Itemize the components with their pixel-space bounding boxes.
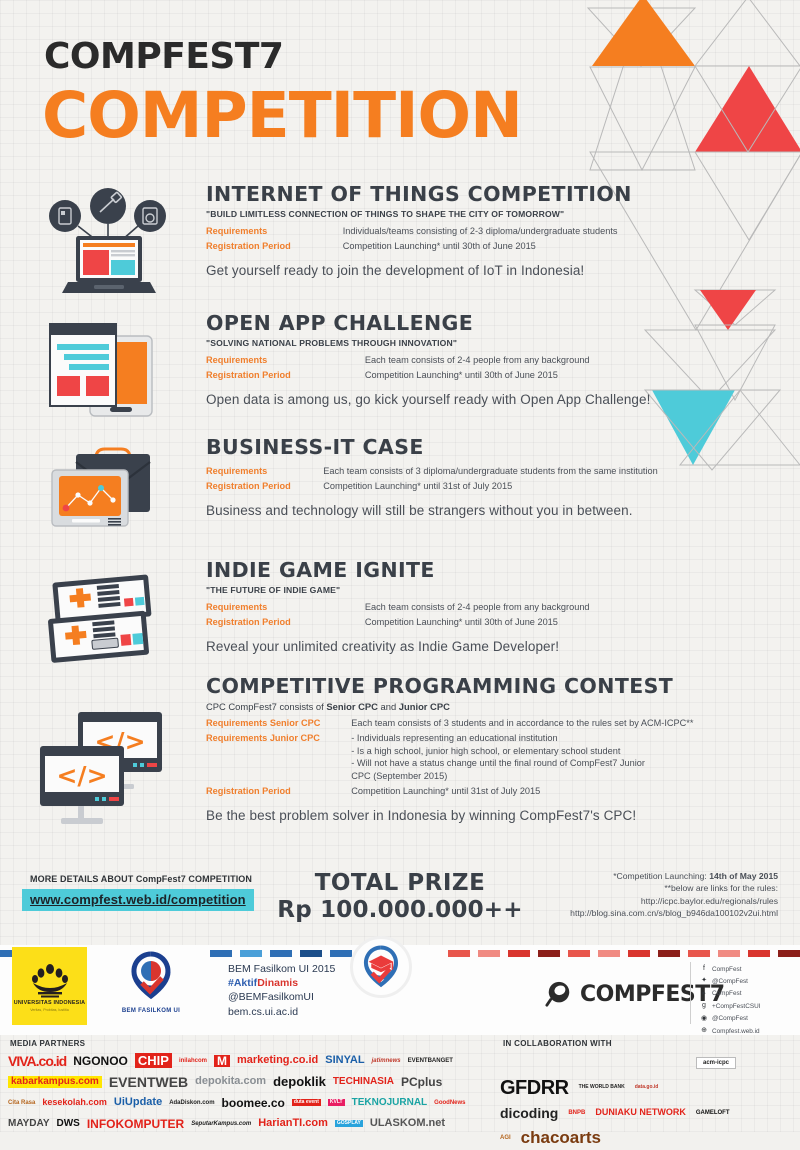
partner-logo: GOSPLAY [335,1120,363,1127]
compfest-pin-badge [350,936,412,998]
partner-logo: GoodNews [434,1100,465,1106]
spec-label: Registration Period [206,616,365,631]
partner-logo: duta event [292,1099,321,1106]
spec-value: Competition Launching* until 30th of Jun… [365,369,786,384]
spec-label: Requirements Junior CPC [206,732,351,785]
iot-laptop-icon [28,186,188,301]
partner-logo: ULASKOM.net [370,1118,445,1129]
bem-website[interactable]: bem.cs.ui.ac.id [228,1005,335,1019]
collab-logo: AGI [500,1135,511,1141]
section-footer-bitc: Business and technology will still be st… [206,503,786,518]
partner-logo: UiUpdate [114,1097,162,1108]
collab-logo: DUNIAKU NETWORK [595,1108,686,1117]
spec-row: Requirements Individuals/teams consistin… [206,225,786,240]
partner-logo: marketing.co.id [237,1055,318,1066]
partner-logo: TEKNOJURNAL [352,1098,428,1108]
section-openapp: OPEN APP CHALLENGE "SOLVING NATIONAL PRO… [206,311,786,407]
svg-text:</>: </> [56,761,107,790]
spec-value: Each team consists of 3 students and in … [351,717,786,732]
section-footer-cpc: Be the best problem solver in Indonesia … [206,808,786,823]
partner-logo: EVENTBANGET [408,1058,453,1064]
social-item-twitter[interactable]: ✦@CompFest [700,975,760,987]
partner-logo: CHIP [135,1053,172,1068]
partner-logo: depoklik [273,1075,326,1088]
partner-logo: MAYDAY [8,1119,50,1129]
spec-row: Registration Period Competition Launchin… [206,480,786,495]
social-item-googleplus[interactable]: g+CompFestCSUI [700,1000,760,1012]
bem-twitter: @BEMFasilkomUI [228,990,335,1004]
partner-logo: inilahcom [179,1058,207,1064]
footnote-rules-link-1[interactable]: http://icpc.baylor.edu/regionals/rules [570,895,778,907]
collab-logo: acm-icpc [696,1057,736,1069]
partner-logo: depokita.com [195,1076,266,1087]
social-links-list: fCompFest ✦@CompFest ▸CompFest g+CompFes… [700,963,760,1038]
social-label: @CompFest [712,1013,748,1024]
website-icon: ⊕ [700,1025,708,1037]
section-bitc: BUSINESS-IT CASE Requirements Each team … [206,435,786,518]
spec-label: Requirements [206,465,323,480]
section-footer-iot: Get yourself ready to join the developme… [206,263,786,278]
spec-value: Each team consists of 2-4 people from an… [365,354,786,369]
spec-label: Registration Period [206,240,343,255]
partner-logo: SINYAL [325,1055,364,1066]
section-title-iot: INTERNET OF THINGS COMPETITION [206,182,786,206]
collab-logo: THE WORLD BANK [579,1085,625,1090]
partner-logo: HarianTI.com [258,1118,328,1129]
spec-row: Registration Period Competition Launchin… [206,785,786,800]
section-title-bitc: BUSINESS-IT CASE [206,435,786,459]
socials-divider [690,962,691,1024]
logo-row: dicoding BNPB DUNIAKU NETWORK GAMELOFT [500,1100,796,1125]
section-subtitle-cpc: CPC CompFest7 consists of Senior CPC and… [206,701,786,712]
spec-value: Each team consists of 3 diploma/undergra… [323,465,786,480]
section-title-cpc: COMPETITIVE PROGRAMMING CONTEST [206,674,786,698]
spec-label: Registration Period [206,480,323,495]
footnote-launching: *Competition Launching: 14th of May 2015 [570,870,778,882]
spec-label: Registration Period [206,785,351,800]
partner-logo: VIVA.co.id [8,1054,66,1068]
section-title-igi: INDIE GAME IGNITE [206,558,786,582]
section-tagline-igi: "THE FUTURE OF INDIE GAME" [206,585,786,595]
media-partners-heading: MEDIA PARTNERS [10,1039,85,1048]
logo-row: GFDRR THE WORLD BANK data.go.id [500,1075,796,1100]
spec-row: Registration Period Competition Launchin… [206,240,786,255]
partner-logo: INFOKOMPUTER [87,1118,184,1130]
logo-row: VIVA.co.id NGONOO CHIP inilahcom M marke… [8,1050,488,1071]
page-title: COMPETITION [42,84,522,147]
collab-logo: data.go.id [635,1085,659,1090]
media-partner-logos: VIVA.co.id NGONOO CHIP inilahcom M marke… [8,1050,488,1134]
social-label: @CompFest [712,976,748,987]
social-label: +CompFestCSUI [712,1001,760,1012]
twitter-icon: ✦ [700,975,708,987]
bem-contact-block: BEM Fasilkom UI 2015 #AktifDinamis @BEMF… [228,962,335,1019]
social-label: Compfest.web.id [712,1026,760,1037]
footnote-launch-date: 14th of May 2015 [709,871,778,881]
brand-text: COMPFEST7 [44,36,283,77]
spec-label: Requirements [206,601,365,616]
collab-logo: GAMELOFT [696,1110,730,1116]
specs-table-openapp: Requirements Each team consists of 2-4 p… [206,354,786,385]
partner-logo: M [214,1055,230,1067]
line-icon: ◉ [700,1013,708,1025]
facebook-icon: f [700,963,708,975]
partner-logo: TECHINASIA [333,1077,394,1087]
section-footer-igi: Reveal your unlimited creativity as Indi… [206,639,786,654]
googleplus-icon: g [700,1000,708,1012]
universitas-indonesia-logo: UNIVERSITAS INDONESIA Veritas, Probitas,… [12,947,87,1025]
section-tagline-iot: "BUILD LIMITLESS CONNECTION OF THINGS TO… [206,209,786,219]
partner-logo: SeputarKampus.com [191,1121,251,1127]
spec-value: Competition Launching* until 30th of Jun… [365,616,786,631]
code-monitors-icon: </> </> [28,706,203,836]
bem-pin-icon [126,950,176,1002]
spec-row: Requirements Junior CPC - Individuals re… [206,732,786,785]
spec-row: Requirements Each team consists of 3 dip… [206,465,786,480]
partner-logo: kesekolah.com [42,1098,107,1107]
collab-logo: BNPB [568,1110,585,1116]
logo-row: Cita Rasa kesekolah.com UiUpdate AdaDisk… [8,1092,488,1113]
spec-value: Individuals/teams consisting of 2-3 dipl… [343,225,786,240]
specs-table-igi: Requirements Each team consists of 2-4 p… [206,601,786,632]
section-footer-openapp: Open data is among us, go kick yourself … [206,392,786,407]
section-cpc: COMPETITIVE PROGRAMMING CONTEST CPC Comp… [206,674,786,823]
partner-logo: AdaDiskon.com [169,1100,214,1106]
compfest-mark-icon [545,980,573,1008]
bem-logo-caption: BEM FASILKOM UI [110,1008,192,1014]
ui-logo-caption: UNIVERSITAS INDONESIA [14,1000,86,1007]
collab-logo: dicoding [500,1106,558,1120]
cpc-sub-junior: Junior CPC [399,701,450,712]
section-title-openapp: OPEN APP CHALLENGE [206,311,786,335]
collaboration-logos: acm-icpc GFDRR THE WORLD BANK data.go.id… [500,1050,796,1150]
spec-row: Registration Period Competition Launchin… [206,369,786,384]
collab-logo: GFDRR [500,1078,569,1098]
social-item-website[interactable]: ⊕Compfest.web.id [700,1025,760,1037]
partner-logo: PCplus [401,1076,442,1088]
graduation-pin-icon [358,944,404,990]
spec-value: Competition Launching* until 30th of Jun… [343,240,786,255]
brand-wordmark: COMPFEST7 [44,36,283,77]
specs-table-bitc: Requirements Each team consists of 3 dip… [206,465,786,496]
social-label: CompFest [712,964,741,975]
spec-row: Requirements Senior CPC Each team consis… [206,717,786,732]
collaboration-heading: IN COLLABORATION WITH [503,1039,612,1049]
spec-row: Registration Period Competition Launchin… [206,616,786,631]
section-iot: INTERNET OF THINGS COMPETITION "BUILD LI… [206,182,786,278]
partner-logo: EVENTWEB [109,1075,188,1089]
logo-row: AGI chacoarts [500,1125,796,1150]
bem-hashtag-aktif: #Aktif [228,977,257,989]
partner-logo: Cita Rasa [8,1100,35,1106]
spec-label: Requirements [206,354,365,369]
specs-table-iot: Requirements Individuals/teams consistin… [206,225,786,256]
cpc-sub-senior: Senior CPC [326,701,378,712]
social-item-youtube[interactable]: ▸CompFest [700,988,760,1000]
bem-hashtag: #AktifDinamis [228,976,335,990]
spec-value: - Individuals representing an educationa… [351,732,786,785]
spec-value: Competition Launching* until 31st of Jul… [351,785,786,800]
spec-row: Requirements Each team consists of 2-4 p… [206,354,786,369]
section-igi: INDIE GAME IGNITE "THE FUTURE OF INDIE G… [206,558,786,654]
spec-value: Each team consists of 2-4 people from an… [365,601,786,616]
compfest-footer-logo: COMPFEST7 [545,980,725,1008]
partner-logo: KVLT [328,1099,345,1106]
partner-logo: jatimnews [372,1058,401,1064]
logo-row: acm-icpc [500,1050,796,1075]
partner-logo: boomee.co [222,1097,285,1109]
partner-logo: DWS [57,1119,80,1129]
youtube-icon: ▸ [700,988,708,1000]
social-label: CompFest [712,988,741,999]
footnote-launch-pre: *Competition Launching: [613,871,709,881]
bem-line-1: BEM Fasilkom UI 2015 [228,962,335,976]
spec-row: Requirements Each team consists of 2-4 p… [206,601,786,616]
specs-table-cpc: Requirements Senior CPC Each team consis… [206,717,786,801]
briefcase-chart-icon [28,440,188,545]
spec-label: Registration Period [206,369,365,384]
spec-value: Competition Launching* until 31st of Jul… [323,480,786,495]
footnotes: *Competition Launching: 14th of May 2015… [570,870,778,920]
social-item-facebook[interactable]: fCompFest [700,963,760,975]
section-tagline-openapp: "SOLVING NATIONAL PROBLEMS THROUGH INNOV… [206,338,786,348]
logo-row: MAYDAY DWS INFOKOMPUTER SeputarKampus.co… [8,1113,488,1134]
bem-hashtag-dinamis: Dinamis [257,977,298,989]
gamepad-icon [28,570,188,665]
cpc-sub-pre: CPC CompFest7 consists of [206,701,326,712]
partner-logo: NGONOO [73,1055,128,1067]
social-item-line[interactable]: ◉@CompFest [700,1013,760,1025]
ui-logo-motto: Veritas, Probitas, Iustitia [30,1008,69,1012]
bem-fasilkom-logo: BEM FASILKOM UI [110,950,192,1014]
footnote-rules-link-2[interactable]: http://blog.sina.com.cn/s/blog_b946da100… [570,907,778,919]
spec-label: Requirements Senior CPC [206,717,351,732]
spec-label: Requirements [206,225,343,240]
partner-logo: kabarkampus.com [8,1076,102,1088]
footnote-rules-label: **below are links for the rules: [570,882,778,894]
tablet-app-icon [28,318,188,423]
cpc-sub-mid: and [378,701,399,712]
makara-ui-icon [29,960,71,1000]
logo-row: kabarkampus.com EVENTWEB depokita.com de… [8,1071,488,1092]
